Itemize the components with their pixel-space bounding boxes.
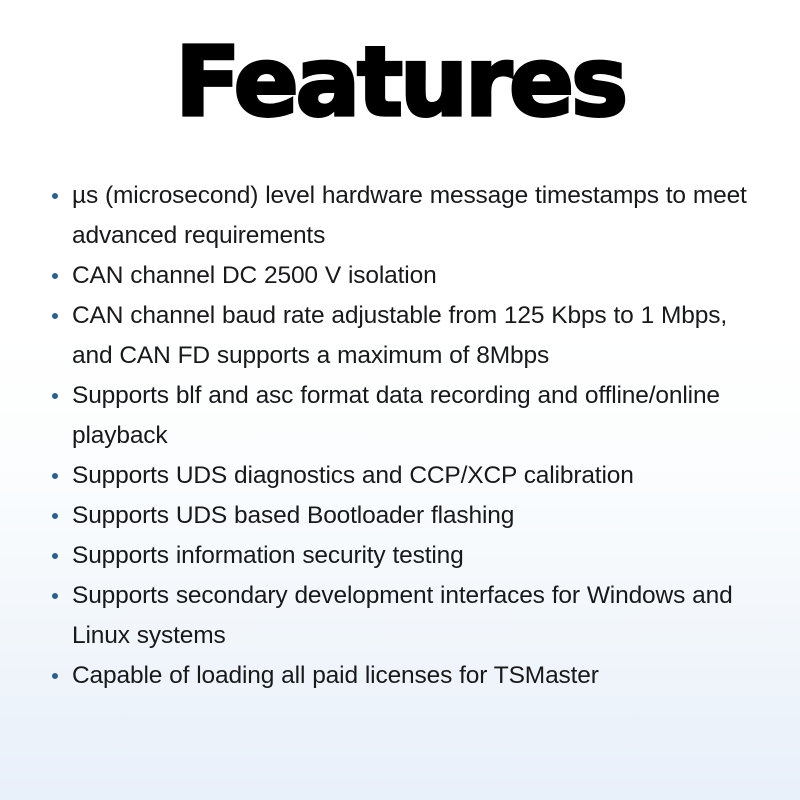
list-item-label: Supports secondary development interface… [72,576,758,656]
list-item: Supports UDS diagnostics and CCP/XCP cal… [46,456,758,496]
bullet-point-icon [52,193,58,199]
bullet-point-icon [52,393,58,399]
page-title: Features [175,34,625,130]
list-item-label: µs (microsecond) level hardware message … [72,176,758,256]
list-item: CAN channel DC 2500 V isolation [46,256,758,296]
title-block: Features [0,34,800,130]
list-item-label: Capable of loading all paid licenses for… [72,656,758,696]
list-item: µs (microsecond) level hardware message … [46,176,758,256]
list-item-label: Supports information security testing [72,536,758,576]
bullet-point-icon [52,473,58,479]
list-item: CAN channel baud rate adjustable from 12… [46,296,758,376]
bullet-point-icon [52,313,58,319]
features-slide: Features µs (microsecond) level hardware… [0,0,800,800]
bullet-point-icon [52,553,58,559]
list-item: Supports information security testing [46,536,758,576]
list-item: Supports UDS based Bootloader flashing [46,496,758,536]
list-item: Supports blf and asc format data recordi… [46,376,758,456]
feature-list: µs (microsecond) level hardware message … [46,176,758,696]
list-item-label: CAN channel DC 2500 V isolation [72,256,758,296]
list-item-label: Supports blf and asc format data recordi… [72,376,758,456]
list-item-label: Supports UDS based Bootloader flashing [72,496,758,536]
list-item: Capable of loading all paid licenses for… [46,656,758,696]
list-item-label: CAN channel baud rate adjustable from 12… [72,296,758,376]
list-item: Supports secondary development interface… [46,576,758,656]
bullet-point-icon [52,593,58,599]
bullet-point-icon [52,273,58,279]
bullet-point-icon [52,513,58,519]
list-item-label: Supports UDS diagnostics and CCP/XCP cal… [72,456,758,496]
bullet-point-icon [52,673,58,679]
